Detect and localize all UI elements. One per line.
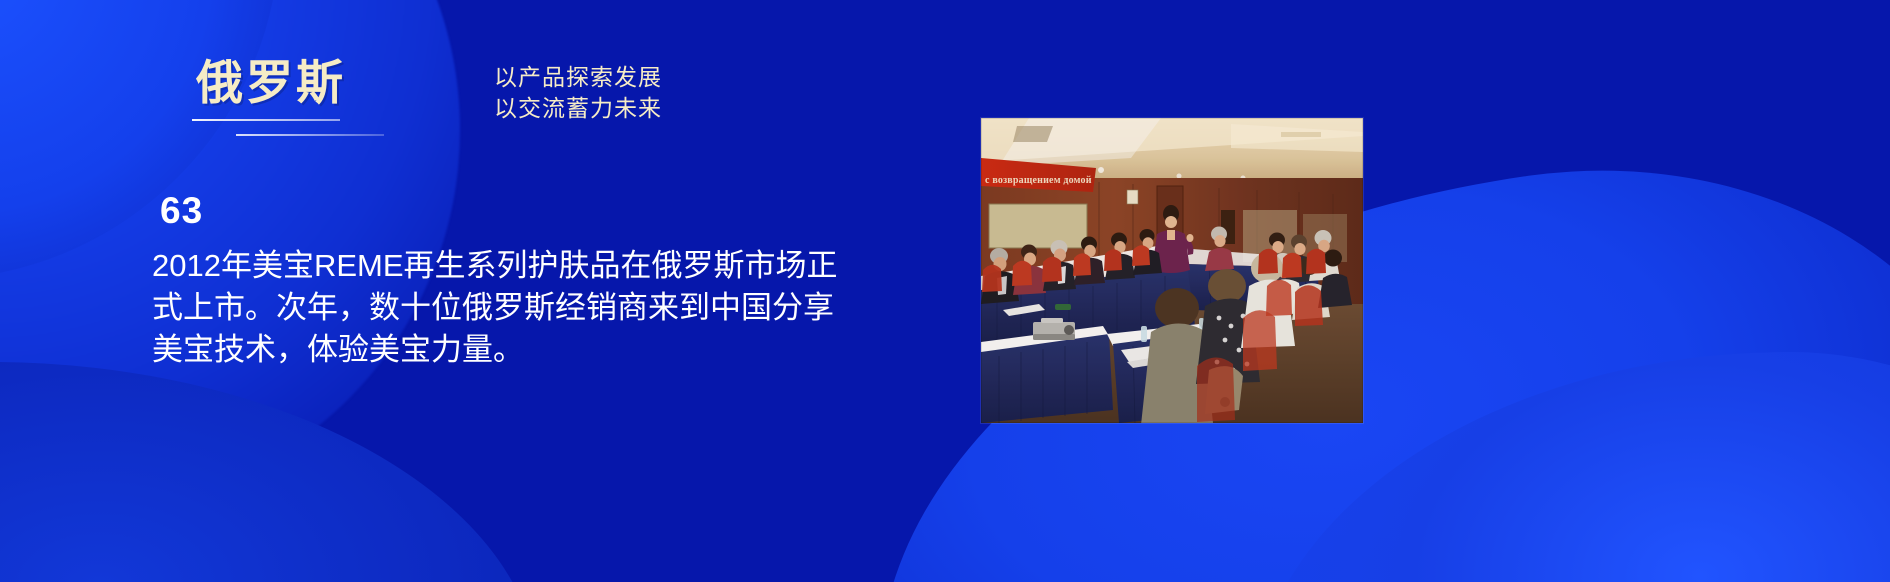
body-line-1: 2012年美宝REME再生系列护肤品在俄罗斯市场正 xyxy=(152,245,872,287)
body-line-3: 美宝技术，体验美宝力量。 xyxy=(152,329,872,371)
body-paragraph: 2012年美宝REME再生系列护肤品在俄罗斯市场正 式上市。次年，数十位俄罗斯经… xyxy=(152,245,872,371)
title-underline-lower xyxy=(236,134,384,136)
country-title: 俄罗斯 xyxy=(196,58,346,107)
title-underline-group xyxy=(196,113,346,139)
title-underline-upper xyxy=(192,119,340,121)
item-number: 63 xyxy=(160,190,203,232)
conference-photo: с возвращением домой xyxy=(981,118,1363,423)
slogan-line-1: 以产品探索发展 xyxy=(494,62,662,93)
slogan-line-2: 以交流蓄力未来 xyxy=(494,93,662,124)
title-block: 俄罗斯 xyxy=(196,58,346,139)
slide-root: 俄罗斯 以产品探索发展 以交流蓄力未来 63 2012年美宝REME再生系列护肤… xyxy=(0,0,1890,582)
conference-photo-graphic: с возвращением домой xyxy=(981,118,1363,423)
slogan-block: 以产品探索发展 以交流蓄力未来 xyxy=(494,62,662,124)
body-line-2: 式上市。次年，数十位俄罗斯经销商来到中国分享 xyxy=(152,287,872,329)
